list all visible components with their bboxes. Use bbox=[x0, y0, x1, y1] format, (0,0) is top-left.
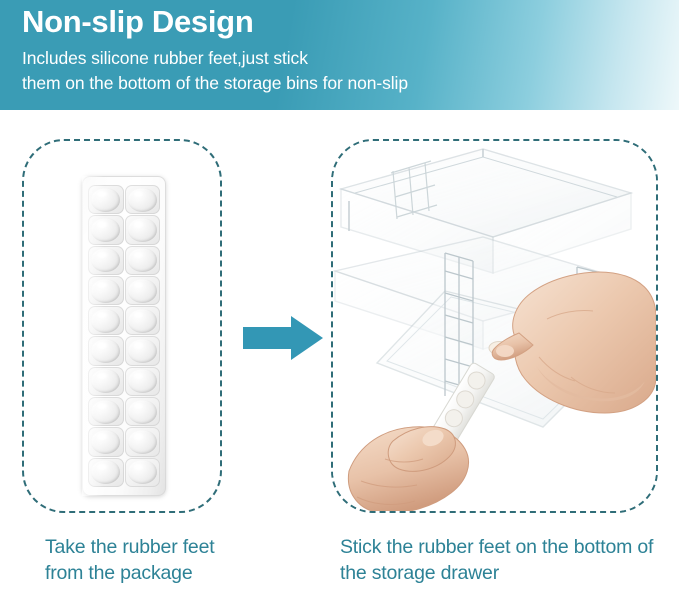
rubber-foot-icon bbox=[91, 218, 120, 242]
rubber-foot-icon bbox=[128, 430, 157, 454]
rubber-foot-icon bbox=[128, 369, 157, 393]
rubber-foot-icon bbox=[91, 188, 120, 212]
rubber-foot-cell bbox=[125, 397, 161, 426]
rubber-foot-cell bbox=[125, 306, 161, 335]
header-banner: Non-slip Design Includes silicone rubber… bbox=[0, 0, 679, 110]
rubber-foot-cell bbox=[125, 427, 161, 456]
rubber-foot-cell bbox=[88, 336, 124, 365]
rubber-foot-icon bbox=[128, 218, 157, 242]
rubber-foot-cell bbox=[88, 367, 124, 396]
rubber-foot-icon bbox=[128, 188, 157, 212]
rubber-foot-icon bbox=[128, 309, 157, 333]
rubber-foot-cell bbox=[125, 276, 161, 305]
header-subtitle-line-1: Includes silicone rubber feet,just stick bbox=[22, 46, 408, 71]
storage-drawer-illustration bbox=[333, 141, 656, 511]
rubber-foot-cell bbox=[125, 336, 161, 365]
caption-right: Stick the rubber feet on the bottom of t… bbox=[340, 534, 660, 586]
rubber-foot-icon bbox=[91, 248, 120, 272]
page-title: Non-slip Design bbox=[22, 4, 253, 40]
rubber-foot-cell bbox=[88, 246, 124, 275]
rubber-foot-icon bbox=[91, 430, 120, 454]
blister-package bbox=[82, 176, 166, 496]
rubber-foot-icon bbox=[128, 460, 157, 484]
rubber-foot-cell bbox=[125, 215, 161, 244]
rubber-foot-icon bbox=[91, 400, 120, 424]
rubber-foot-icon bbox=[91, 339, 120, 363]
rubber-foot-cell bbox=[88, 215, 124, 244]
rubber-foot-icon bbox=[128, 339, 157, 363]
rubber-foot-cell bbox=[88, 306, 124, 335]
rubber-foot-cell bbox=[88, 397, 124, 426]
rubber-foot-icon bbox=[91, 309, 120, 333]
rubber-foot-cell bbox=[88, 185, 124, 214]
rubber-foot-cell bbox=[125, 367, 161, 396]
rubber-foot-cell bbox=[125, 246, 161, 275]
rubber-foot-icon bbox=[128, 279, 157, 303]
rubber-foot-icon bbox=[91, 460, 120, 484]
product-feature-image: Non-slip Design Includes silicone rubber… bbox=[0, 0, 679, 613]
rubber-foot-cell bbox=[88, 276, 124, 305]
rubber-foot-icon bbox=[91, 279, 120, 303]
rubber-foot-icon bbox=[128, 400, 157, 424]
rubber-foot-cell bbox=[125, 458, 161, 487]
rubber-foot-cell bbox=[88, 427, 124, 456]
blister-cell-grid bbox=[88, 185, 160, 487]
rubber-foot-icon bbox=[91, 369, 120, 393]
rubber-foot-cell bbox=[88, 458, 124, 487]
rubber-foot-cell bbox=[125, 185, 161, 214]
step-arrow-icon bbox=[243, 316, 323, 360]
header-subtitle: Includes silicone rubber feet,just stick… bbox=[22, 46, 408, 96]
header-subtitle-line-2: them on the bottom of the storage bins f… bbox=[22, 71, 408, 96]
caption-left: Take the rubber feet from the package bbox=[45, 534, 255, 586]
rubber-foot-icon bbox=[128, 248, 157, 272]
storage-drawer-scene bbox=[333, 141, 656, 511]
